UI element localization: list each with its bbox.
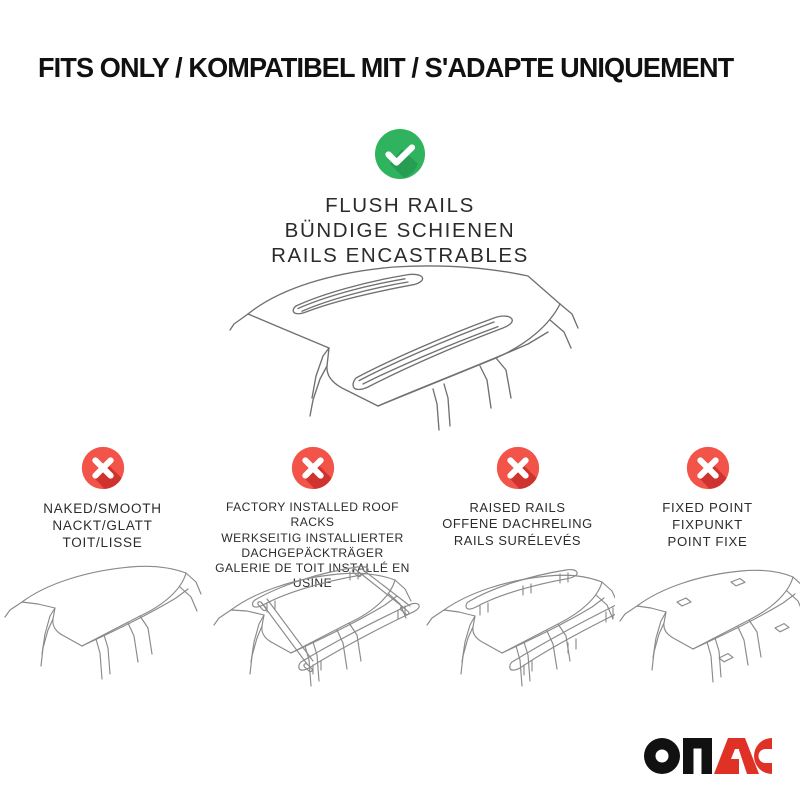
car-roof-flush-rails-illustration <box>228 258 583 443</box>
page-title: FITS ONLY / KOMPATIBEL MIT / S'ADAPTE UN… <box>38 52 767 84</box>
compatible-label-en: FLUSH RAILS <box>0 193 800 218</box>
red-x-circle-icon <box>496 446 540 490</box>
incompatible-label-de: NACKT/GLATT <box>0 517 205 534</box>
incompatible-label-de: OFFENE DACHRELING <box>420 516 615 532</box>
incompatible-label-fr: TOIT/LISSE <box>0 534 205 551</box>
omac-logo: OMAC <box>644 738 772 774</box>
logo-letter-c-opening <box>766 749 773 763</box>
logo-letter-o <box>644 738 680 774</box>
incompatible-labels: FIXED POINT FIXPUNKT POINT FIXE <box>615 500 800 550</box>
red-x-circle-icon <box>686 446 730 490</box>
incompatible-label-en: RAISED RAILS <box>420 500 615 516</box>
compatible-labels: FLUSH RAILS BÜNDIGE SCHIENEN RAILS ENCAS… <box>0 193 800 268</box>
incompatible-label-de-1: WERKSEITIG INSTALLIERTER <box>205 531 420 546</box>
red-x-circle-icon <box>291 446 335 490</box>
incompatible-labels: RAISED RAILS OFFENE DACHRELING RAILS SUR… <box>420 500 615 549</box>
compatible-label-de: BÜNDIGE SCHIENEN <box>0 218 800 243</box>
incompatible-item-fixed-point: FIXED POINT FIXPUNKT POINT FIXE <box>615 446 800 592</box>
red-x-circle-icon <box>81 446 125 490</box>
incompatible-item-raised-rails: RAISED RAILS OFFENE DACHRELING RAILS SUR… <box>420 446 615 592</box>
incompatible-label-en: NAKED/SMOOTH <box>0 500 205 517</box>
car-roof-factory-racks-illustration <box>205 548 420 698</box>
incompatible-labels: NAKED/SMOOTH NACKT/GLATT TOIT/LISSE <box>0 500 205 551</box>
incompatible-label-fr: RAILS SURÉLEVÉS <box>420 533 615 549</box>
green-check-circle-icon <box>374 128 426 180</box>
car-roof-naked-smooth-illustration <box>0 554 205 694</box>
logo-letter-a <box>714 738 739 774</box>
incompatible-section: NAKED/SMOOTH NACKT/GLATT TOIT/LISSE <box>0 446 800 592</box>
incompatible-item-naked-smooth: NAKED/SMOOTH NACKT/GLATT TOIT/LISSE <box>0 446 205 592</box>
incompatible-label-de: FIXPUNKT <box>615 517 800 534</box>
car-roof-raised-rails-illustration <box>420 550 615 698</box>
incompatible-label-fr: POINT FIXE <box>615 534 800 551</box>
logo-letter-m <box>683 738 712 774</box>
incompatible-item-factory-racks: FACTORY INSTALLED ROOF RACKS WERKSEITIG … <box>205 446 420 592</box>
car-roof-fixed-point-illustration <box>615 554 800 696</box>
incompatible-label-en: FACTORY INSTALLED ROOF RACKS <box>205 500 420 531</box>
compatible-section: FLUSH RAILS BÜNDIGE SCHIENEN RAILS ENCAS… <box>0 128 800 268</box>
incompatible-label-en: FIXED POINT <box>615 500 800 517</box>
